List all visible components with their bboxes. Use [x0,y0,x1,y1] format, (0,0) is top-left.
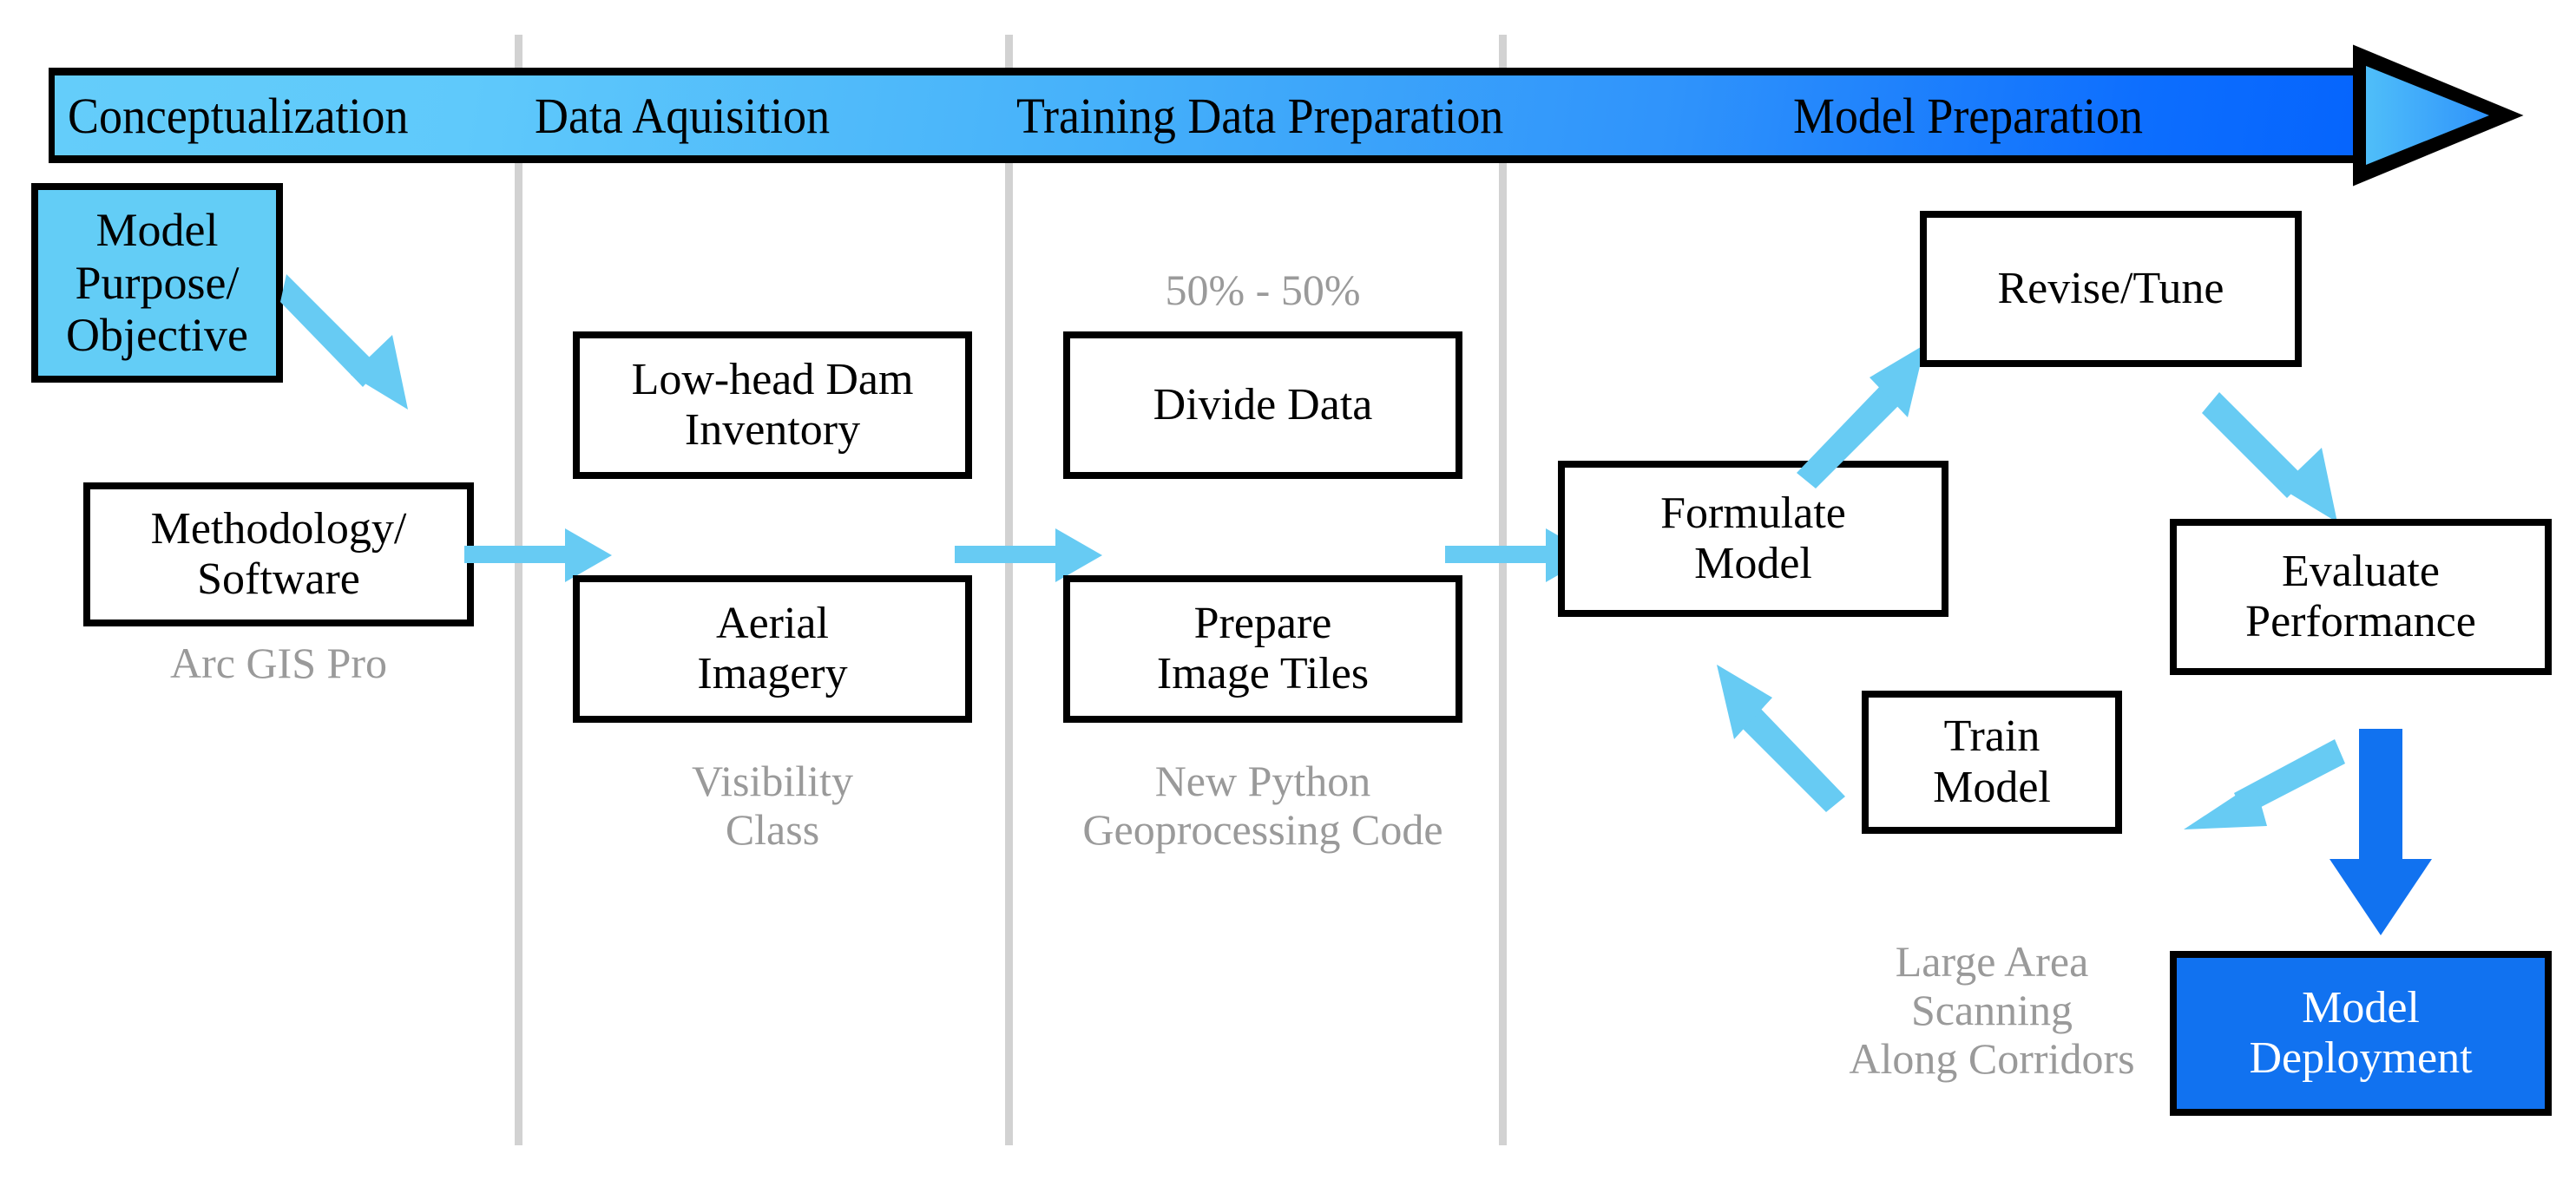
phase-label-data-aquisition: Data Aquisition [535,80,830,153]
box-methodology-software[interactable]: Methodology/Software [83,482,474,626]
caption-large-area-scanning: Large AreaScanningAlong Corridors [1771,937,2213,1083]
box-model-deployment[interactable]: ModelDeployment [2170,951,2552,1116]
box-train-model[interactable]: TrainModel [1862,691,2122,834]
arrow-evaluate-to-train [2152,729,2352,850]
box-prepare-image-tiles[interactable]: PrepareImage Tiles [1063,575,1462,723]
phase-label-model-preparation: Model Preparation [1793,80,2143,153]
caption-visibility-class: VisibilityClass [568,757,976,854]
box-aerial-imagery[interactable]: AerialImagery [573,575,972,723]
caption-split-ratio: 50% - 50% [1063,265,1462,314]
box-divide-data[interactable]: Divide Data [1063,331,1462,479]
phase-banner: Conceptualization Data Aquisition Traini… [49,68,2557,163]
arrow-purpose-to-methodology [276,252,467,425]
box-revise-tune[interactable]: Revise/Tune [1920,211,2302,367]
workflow-diagram: Conceptualization Data Aquisition Traini… [0,0,2576,1180]
caption-arc-gis-pro: Arc GIS Pro [83,639,474,687]
phase-label-conceptualization: Conceptualization [68,80,408,153]
box-evaluate-performance[interactable]: EvaluatePerformance [2170,519,2552,675]
arrow-evaluate-to-deployment [2326,729,2439,946]
box-low-head-dam-inventory[interactable]: Low-head DamInventory [573,331,972,479]
phase-label-training-data-preparation: Training Data Preparation [1016,80,1503,153]
arrow-train-to-formulate [1675,642,1875,816]
arrow-revise-to-evaluate [2209,373,2400,538]
box-model-purpose-objective[interactable]: ModelPurpose/Objective [31,183,283,383]
caption-new-python-geoprocessing-code: New PythonGeoprocessing Code [998,757,1528,854]
